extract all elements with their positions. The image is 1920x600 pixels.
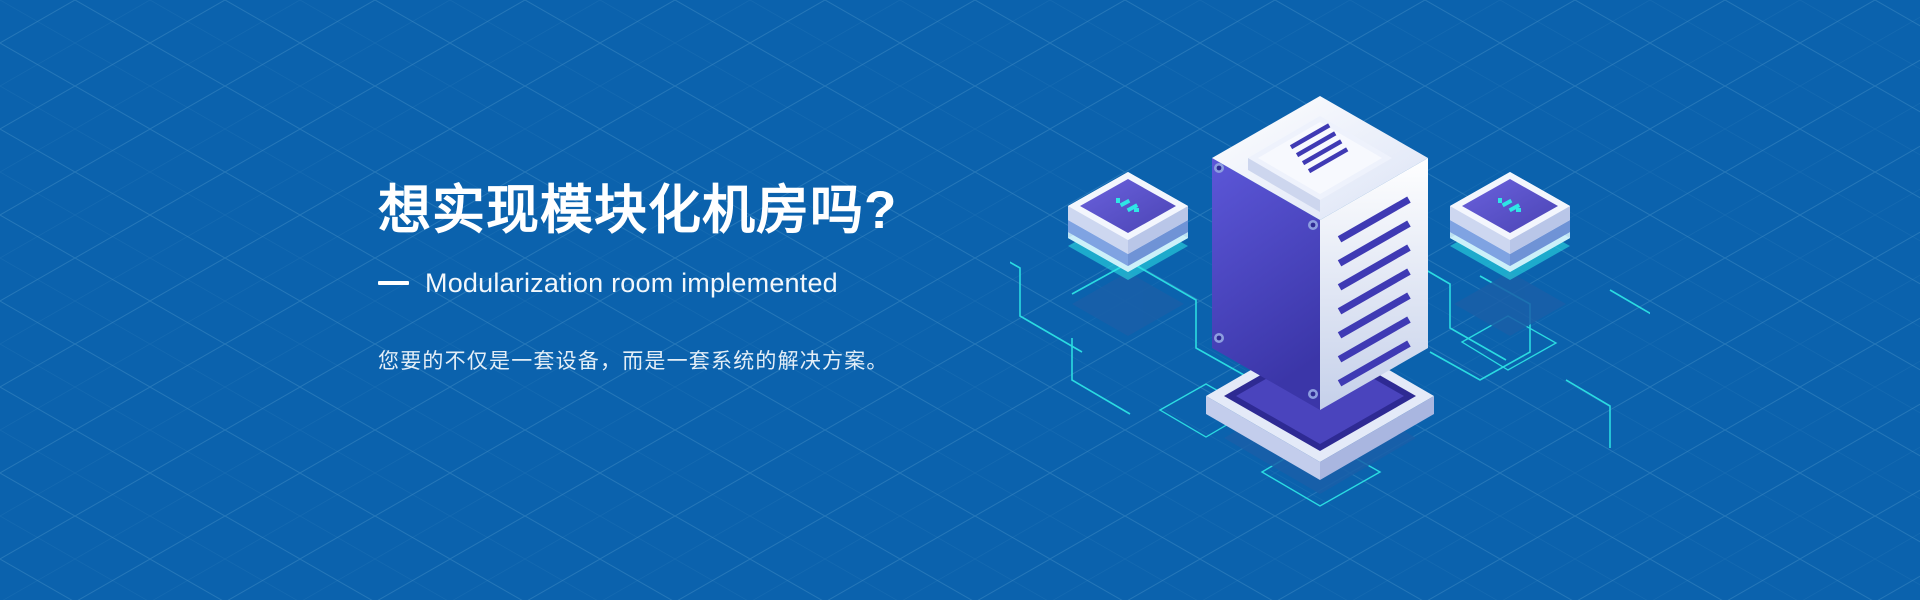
page-subtitle: Modularization room implemented	[425, 268, 838, 299]
hero-copy-block: 想实现模块化机房吗? Modularization room implement…	[378, 180, 1138, 378]
subtitle-row: Modularization room implemented	[378, 268, 1138, 299]
page-description: 您要的不仅是一套设备，而是一套系统的解决方案。	[378, 345, 1138, 379]
server-tower	[1206, 96, 1434, 480]
page-title: 想实现模块化机房吗?	[378, 180, 1138, 243]
hero-banner: 想实现模块化机房吗? Modularization room implement…	[0, 0, 1920, 600]
chip-module-right	[1450, 172, 1570, 280]
dash-rule-icon	[378, 281, 409, 285]
